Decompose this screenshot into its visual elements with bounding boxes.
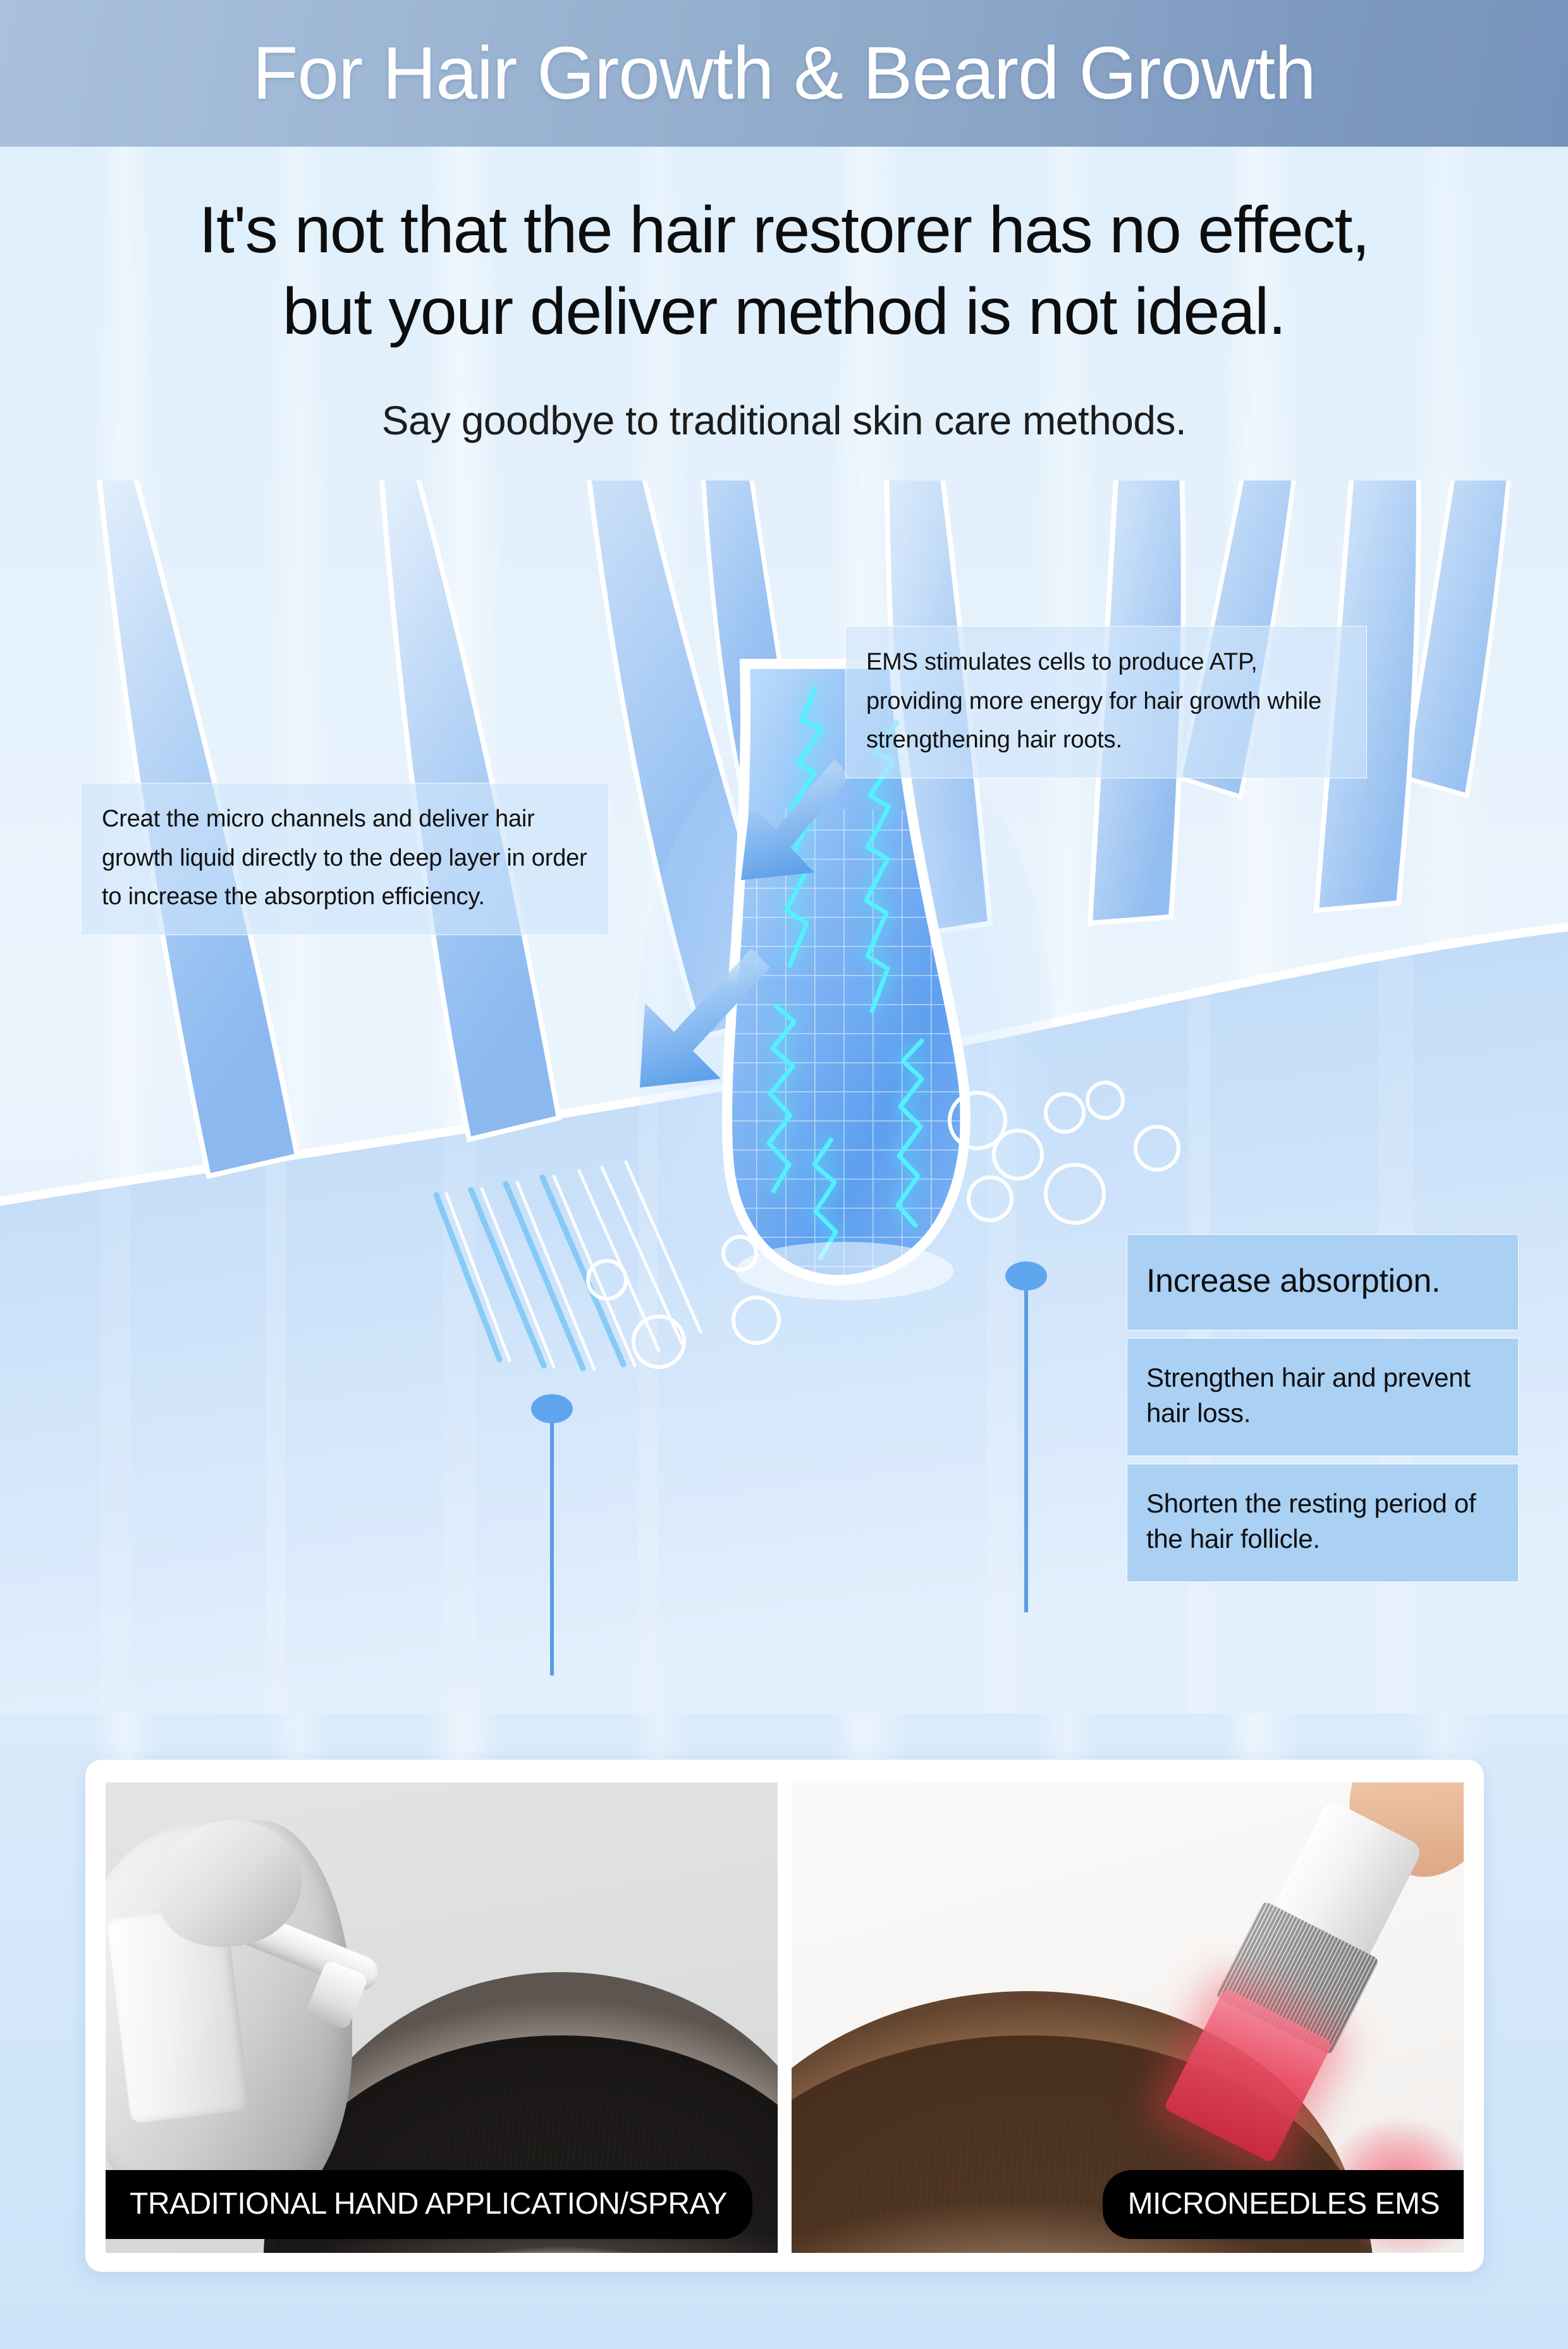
caption-traditional: TRADITIONAL HAND APPLICATION/SPRAY — [106, 2170, 752, 2239]
callout-micro-channels: Creat the micro channels and deliver hai… — [81, 783, 609, 935]
headline-line-2: but your deliver method is not ideal. — [0, 271, 1568, 353]
follicle-base-glow — [736, 1242, 953, 1300]
benefit-item-absorption: Increase absorption. — [1127, 1234, 1519, 1330]
benefit-item-resting: Shorten the resting period of the hair f… — [1127, 1464, 1519, 1582]
header-title: For Hair Growth & Beard Growth — [252, 30, 1316, 116]
photo-traditional-spray: TRADITIONAL HAND APPLICATION/SPRAY — [106, 1782, 778, 2253]
caption-microneedles: MICRONEEDLES EMS — [1103, 2170, 1464, 2239]
benefits-list: Increase absorption. Strengthen hair and… — [1127, 1234, 1519, 1590]
photo-microneedles-ems: MICRONEEDLES EMS — [792, 1782, 1464, 2253]
benefit-item-strengthen: Strengthen hair and prevent hair loss. — [1127, 1338, 1519, 1456]
leader-dot-ems — [1005, 1261, 1047, 1291]
hair-shaft — [1405, 481, 1524, 795]
subheadline-text: Say goodbye to traditional skin care met… — [0, 397, 1568, 444]
infographic-page: For Hair Growth & Beard Growth It's not … — [0, 0, 1568, 2349]
header-banner: For Hair Growth & Beard Growth — [0, 0, 1568, 147]
headline-line-1: It's not that the hair restorer has no e… — [199, 193, 1369, 267]
comparison-card: TRADITIONAL HAND APPLICATION/SPRAY MICRO… — [85, 1760, 1484, 2272]
headline-text: It's not that the hair restorer has no e… — [0, 190, 1568, 353]
leader-dot-micro — [531, 1394, 573, 1423]
headline-block: It's not that the hair restorer has no e… — [0, 190, 1568, 444]
callout-ems: EMS stimulates cells to produce ATP, pro… — [845, 626, 1367, 778]
